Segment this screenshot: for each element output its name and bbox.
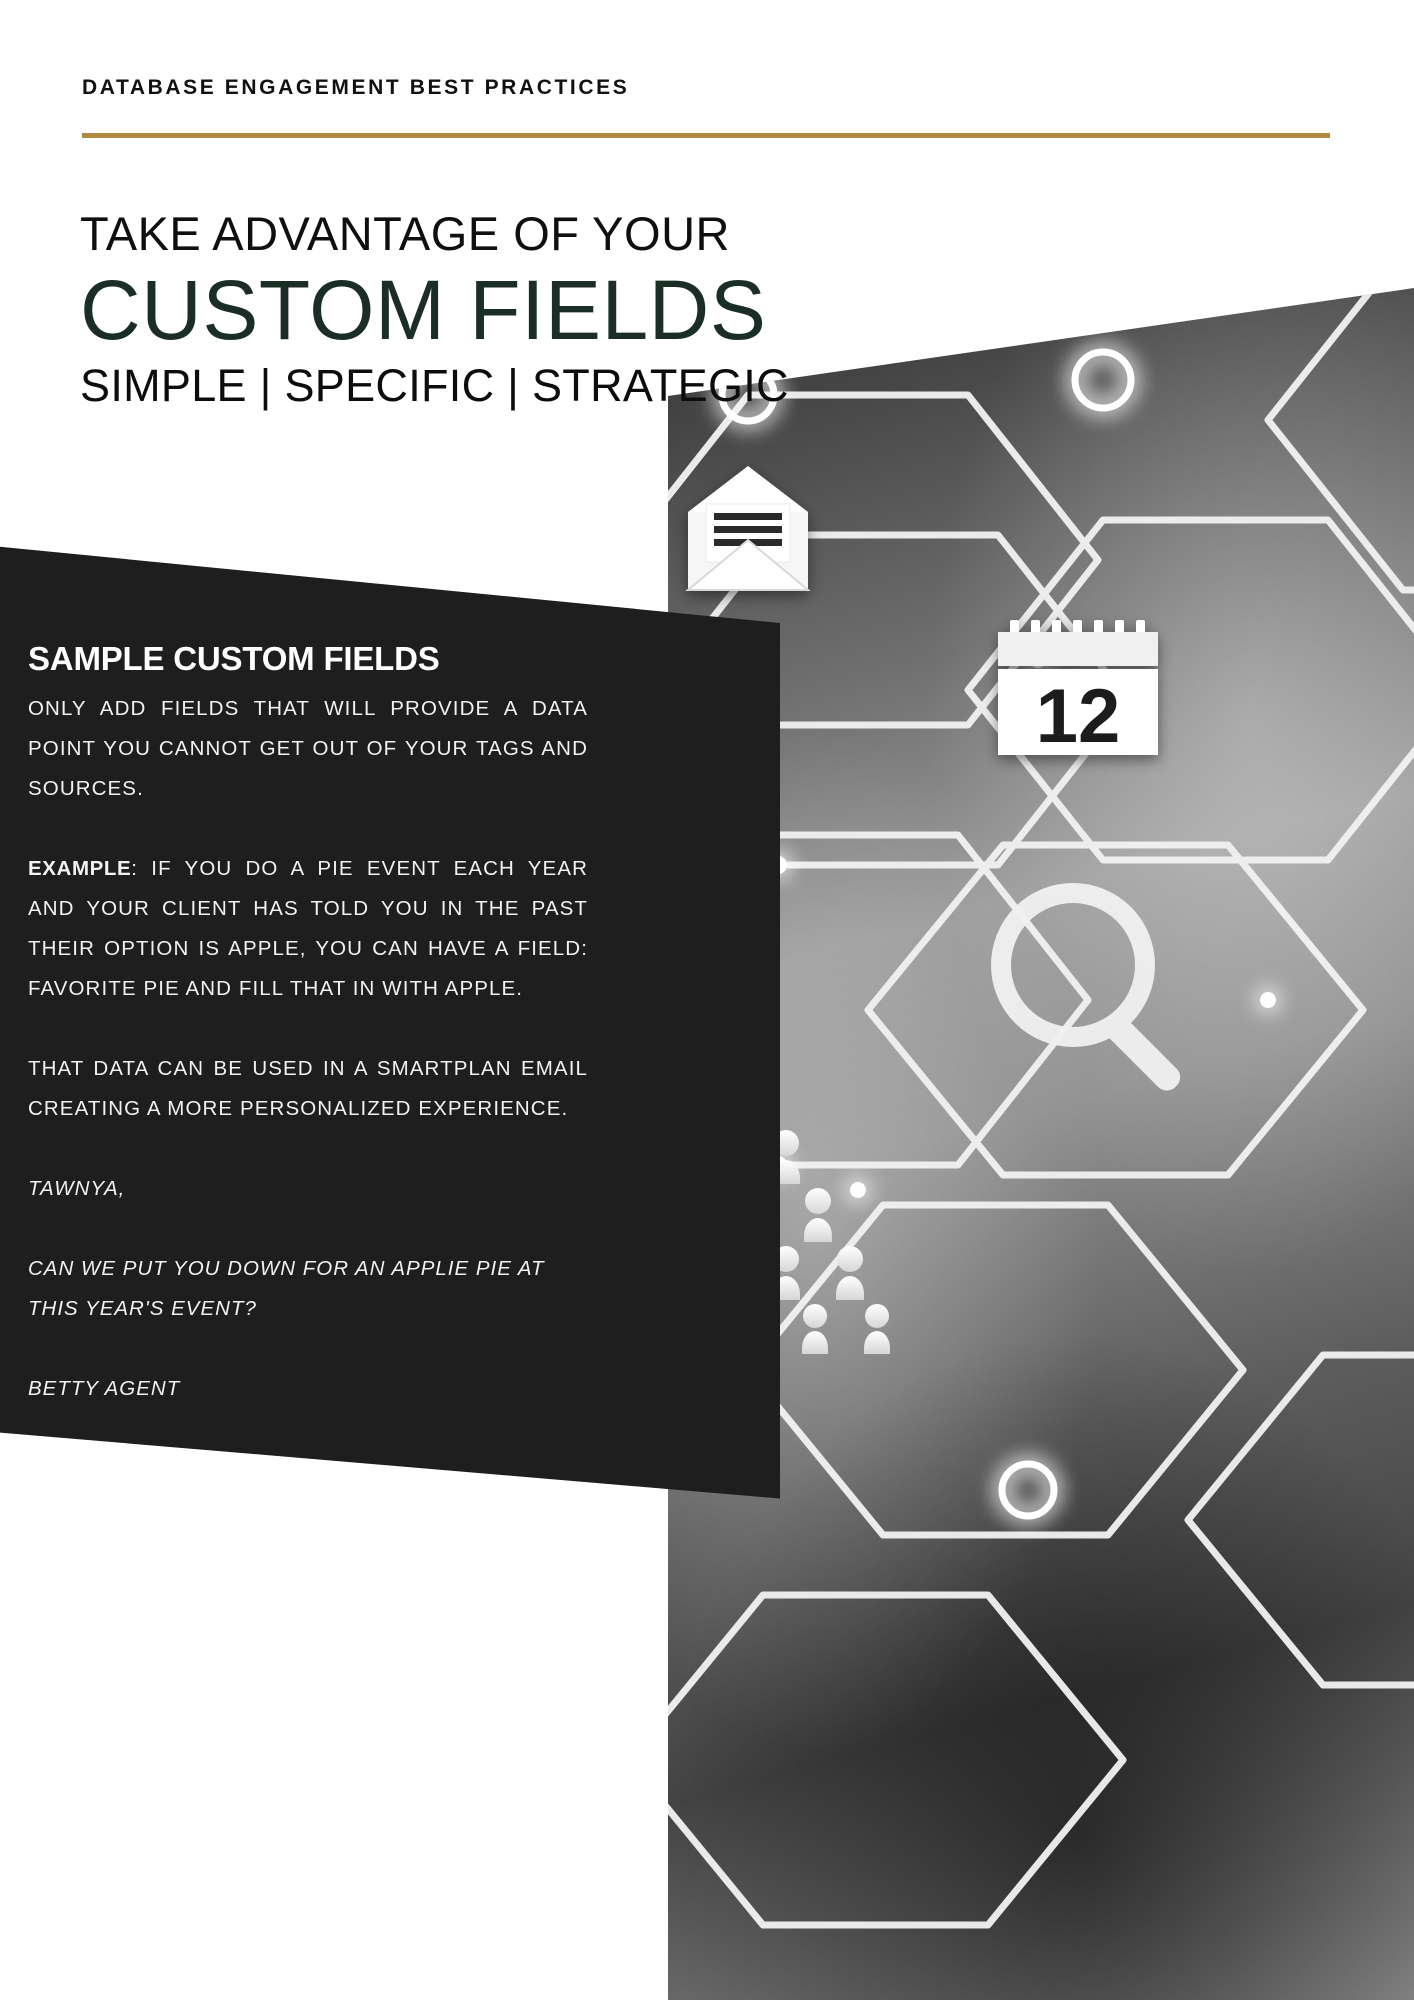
email-signature: BETTY AGENT bbox=[28, 1369, 588, 1409]
poster-page: 12 bbox=[0, 0, 1414, 2000]
sample-custom-fields-panel: SAMPLE CUSTOM FIELDS ONLY ADD FIELDS THA… bbox=[0, 520, 780, 1550]
page-eyebrow: DATABASE ENGAGEMENT BEST PRACTICES bbox=[82, 76, 629, 100]
panel-paragraph-2: EXAMPLE: IF YOU DO A PIE EVENT EACH YEAR… bbox=[28, 849, 588, 1009]
envelope-icon bbox=[688, 466, 808, 590]
example-label: EXAMPLE bbox=[28, 857, 131, 880]
calendar-day-label: 12 bbox=[1036, 674, 1121, 759]
title-line-3: SIMPLE | SPECIFIC | STRATEGIC bbox=[80, 363, 789, 408]
panel-paragraph-3: THAT DATA CAN BE USED IN A SMARTPLAN EMA… bbox=[28, 1049, 588, 1129]
email-body: CAN WE PUT YOU DOWN FOR AN APPLIE PIE AT… bbox=[28, 1249, 588, 1329]
panel-paragraph-1: ONLY ADD FIELDS THAT WILL PROVIDE A DATA… bbox=[28, 689, 588, 809]
title-line-2: CUSTOM FIELDS bbox=[80, 263, 789, 357]
panel-content: SAMPLE CUSTOM FIELDS ONLY ADD FIELDS THA… bbox=[28, 640, 588, 1409]
title-line-1: TAKE ADVANTAGE OF YOUR bbox=[80, 210, 789, 257]
email-greeting: TAWNYA, bbox=[28, 1169, 588, 1209]
calendar-icon: 12 bbox=[998, 620, 1158, 759]
page-title: TAKE ADVANTAGE OF YOUR CUSTOM FIELDS SIM… bbox=[80, 210, 789, 408]
panel-heading: SAMPLE CUSTOM FIELDS bbox=[28, 640, 588, 678]
gold-divider bbox=[82, 133, 1330, 138]
